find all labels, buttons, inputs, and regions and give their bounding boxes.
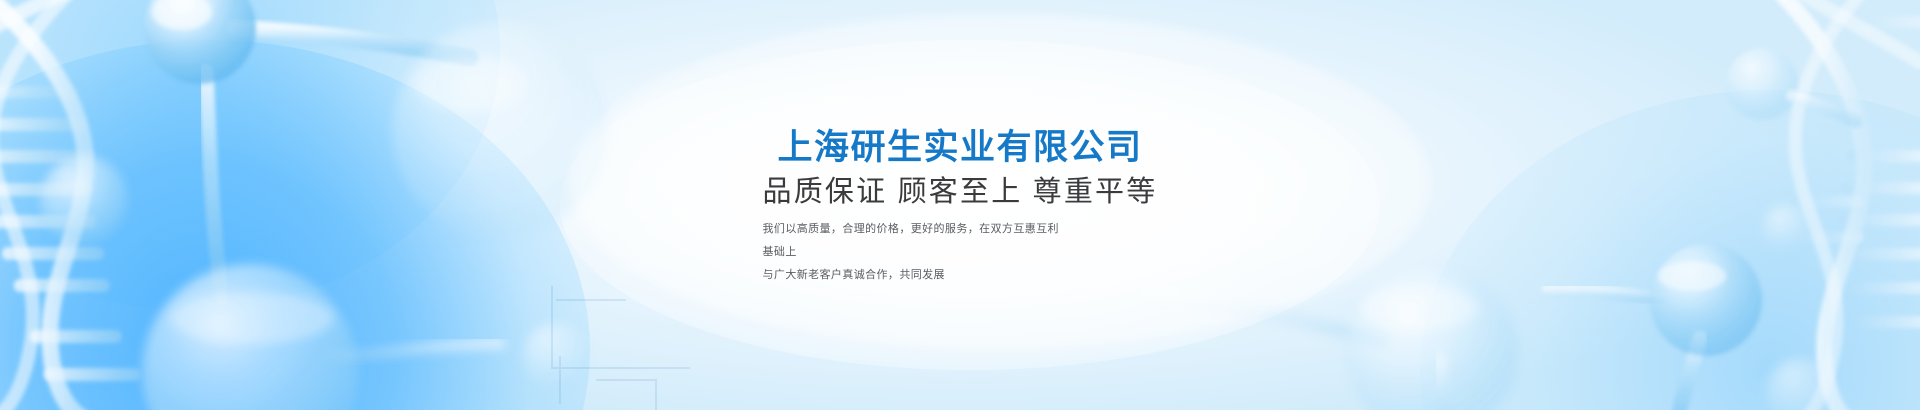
description-line-2: 与广大新老客户真诚合作，共同发展	[763, 264, 1063, 287]
molecule-sphere	[1766, 358, 1834, 410]
banner-slogan: 品质保证 顾客至上 尊重平等	[763, 175, 1158, 209]
banner-description: 我们以高质量，合理的价格，更好的服务，在双方互惠互利基础上 与广大新老客户真诚合…	[763, 218, 1063, 287]
hero-banner: 上海研生实业有限公司 品质保证 顾客至上 尊重平等 我们以高质量，合理的价格，更…	[0, 0, 1920, 410]
description-line-1: 我们以高质量，合理的价格，更好的服务，在双方互惠互利基础上	[763, 218, 1063, 264]
glassware-ghost	[552, 286, 690, 410]
molecule-sphere	[144, 0, 256, 84]
molecule-sphere	[1726, 48, 1798, 120]
company-title: 上海研生实业有限公司	[763, 128, 1158, 169]
banner-copy: 上海研生实业有限公司 品质保证 顾客至上 尊重平等 我们以高质量，合理的价格，更…	[0, 128, 1920, 287]
molecule-sphere	[522, 322, 590, 390]
molecule-sphere	[1346, 266, 1518, 410]
